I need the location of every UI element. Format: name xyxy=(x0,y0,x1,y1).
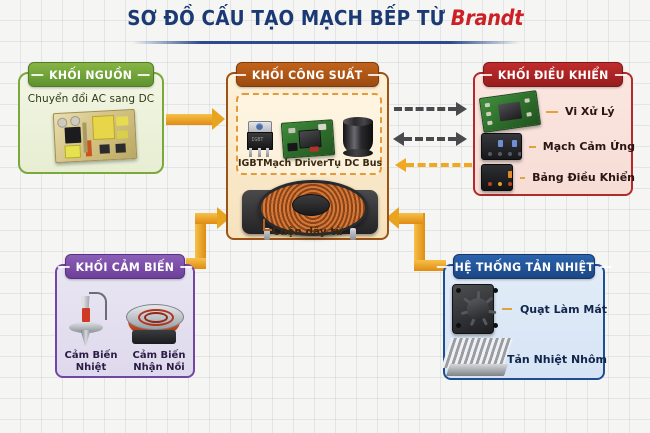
capacitor-base xyxy=(343,149,373,157)
probe-tip xyxy=(81,330,91,346)
page-title: SƠ ĐỒ CẤU TẠO MẠCH BẾP TỪBrandt xyxy=(127,6,523,30)
dash-left xyxy=(234,74,246,76)
power-module-parts-row: IGBT xyxy=(238,95,380,157)
block-cooling[interactable]: HỆ THỐNG TẢN NHIỆT Quạt Làm Mát xyxy=(443,264,605,380)
mcu-chip xyxy=(498,102,522,122)
block-power-supply-header: KHỐI NGUỒN xyxy=(28,62,154,87)
block-control[interactable]: KHỐI ĐIỀU KHIỂN Vi Xử Lý xyxy=(473,72,633,196)
power-supply-board-icon xyxy=(54,111,136,161)
microcontroller-board-icon xyxy=(479,90,541,133)
dash-left xyxy=(58,266,70,268)
coil-bolt-right xyxy=(350,228,356,240)
touch-leader xyxy=(529,146,536,148)
cooling-fan-icon xyxy=(452,284,494,334)
block-power-supply[interactable]: KHỐI NGUỒN Chuyển đổi AC sang DC xyxy=(18,72,164,174)
power-module-labels-row: IGBT Mạch Driver Tụ DC Bus xyxy=(238,158,380,169)
power-module-parts-group: IGBT IGBT Mạch Driver xyxy=(236,93,382,175)
igbt-pins xyxy=(249,148,269,157)
dash-left xyxy=(31,74,43,76)
cooling-item-heatsink[interactable]: Tản Nhiệt Nhôm xyxy=(452,338,607,380)
cooling-items: Quạt Làm Mát Tản Nhiệt Nhôm xyxy=(445,284,607,386)
aluminium-heatsink-icon xyxy=(446,338,484,380)
title-area: SƠ ĐỒ CẤU TẠO MẠCH BẾP TỪBrandt xyxy=(0,6,650,30)
block-cooling-header: HỆ THỐNG TẢN NHIỆT xyxy=(453,254,595,279)
dash-left xyxy=(480,74,492,76)
pcb-body xyxy=(53,109,138,163)
driver-part-b xyxy=(318,124,326,131)
control-label-touch: Mạch Cảm Ứng xyxy=(543,140,635,153)
hob-base xyxy=(132,330,176,344)
hob-ring-inner xyxy=(144,312,168,323)
sensor-items: Cảm Biến Nhiệt Cảm Biến Nhận Nồi xyxy=(57,284,193,374)
block-power-module-header: KHỐI CÔNG SUẤT xyxy=(236,62,379,87)
dash-left xyxy=(436,266,448,268)
pot-detection-sensor-icon xyxy=(126,302,182,348)
control-item-panel[interactable]: Bảng Điều Khiển xyxy=(481,164,635,191)
block-sensor-heading: KHỐI CẢM BIẾN xyxy=(52,260,198,274)
part-label-igbt: IGBT xyxy=(238,158,263,169)
arrow-core-to-control-line xyxy=(394,107,456,111)
cooling-label-fan: Quạt Làm Mát xyxy=(520,303,607,316)
driver-part-c xyxy=(288,128,295,133)
arrow-control-to-core-line xyxy=(406,163,472,167)
block-power-module[interactable]: KHỐI CÔNG SUẤT IGBT xyxy=(226,72,389,240)
block-power-supply-subtitle: Chuyển đổi AC sang DC xyxy=(20,93,162,105)
control-item-touch[interactable]: Mạch Cảm Ứng xyxy=(481,133,635,160)
block-control-heading: KHỐI ĐIỀU KHIỂN xyxy=(474,68,632,82)
block-sensor[interactable]: KHỐI CẢM BIẾN C xyxy=(55,264,195,378)
diagram-canvas: SƠ ĐỒ CẤU TẠO MẠCH BẾP TỪBrandt KHỐI NGU… xyxy=(0,0,650,433)
dash-right xyxy=(369,74,381,76)
arrow-core-to-control-head xyxy=(456,102,467,116)
panel-leader xyxy=(520,177,525,179)
arrow-core-control-bidir-head-right xyxy=(456,132,467,146)
mcu-leader xyxy=(546,111,558,113)
arrow-control-to-core-head xyxy=(395,158,406,172)
arrow-cooling-to-core-horizontal-top xyxy=(399,213,423,224)
heatsink-base xyxy=(446,364,508,376)
control-label-mcu: Vi Xử Lý xyxy=(565,105,615,118)
coil-hub xyxy=(292,194,330,216)
capacitor-top xyxy=(343,117,373,126)
block-sensor-header: KHỐI CẢM BIẾN xyxy=(65,254,185,279)
coil-label: Cuộn dây từ xyxy=(272,226,343,238)
sensor-labels-row: Cảm Biến Nhiệt Cảm Biến Nhận Nồi xyxy=(57,350,193,374)
arrow-core-control-bidir-line xyxy=(404,137,456,141)
cooling-label-heatsink: Tản Nhiệt Nhôm xyxy=(507,353,607,366)
part-label-capacitor: Tụ DC Bus xyxy=(328,158,382,169)
sensor-label-thermal: Cảm Biến Nhiệt xyxy=(65,350,118,374)
dash-right xyxy=(138,74,150,76)
arrow-sensor-to-core-horizontal-top xyxy=(195,213,219,224)
page-title-text: SƠ ĐỒ CẤU TẠO MẠCH BẾP TỪ xyxy=(127,6,445,30)
coil-leader-horizontal xyxy=(263,229,272,231)
probe-red-core xyxy=(82,308,90,322)
title-divider xyxy=(132,41,520,44)
dc-bus-capacitor-icon xyxy=(343,117,373,157)
sensor-label-pot: Cảm Biến Nhận Nồi xyxy=(133,350,186,374)
control-items: Vi Xử Lý Mạch Cảm Ứng Bảng Điều Khiển xyxy=(475,94,635,195)
block-cooling-heading: HỆ THỐNG TẢN NHIỆT xyxy=(431,260,618,274)
dash-right xyxy=(180,266,192,268)
driver-part-d xyxy=(310,146,319,152)
dash-right xyxy=(599,266,611,268)
control-panel-icon xyxy=(481,164,513,191)
arrow-power-to-core-head xyxy=(212,108,225,130)
driver-board-icon xyxy=(281,119,335,159)
block-power-supply-heading: KHỐI NGUỒN xyxy=(26,68,157,82)
fan-hub xyxy=(467,298,489,320)
block-control-header: KHỐI ĐIỀU KHIỂN xyxy=(483,62,623,87)
arrow-power-to-core-shaft xyxy=(166,114,214,125)
dash-right xyxy=(614,74,626,76)
touch-sensor-board-icon xyxy=(481,133,522,160)
part-label-driver: Mạch Driver xyxy=(263,158,328,169)
brand-name: Brandt xyxy=(451,6,523,30)
driver-part-a xyxy=(287,143,298,152)
igbt-transistor-icon: IGBT xyxy=(245,121,273,157)
probe-wire xyxy=(89,292,107,320)
fan-leader xyxy=(502,308,512,310)
arrow-core-control-bidir-head-left xyxy=(393,132,404,146)
control-item-mcu[interactable]: Vi Xử Lý xyxy=(481,94,635,129)
block-power-module-heading: KHỐI CÔNG SUẤT xyxy=(228,68,386,82)
cooling-item-fan[interactable]: Quạt Làm Mát xyxy=(452,284,607,334)
sensor-icons-row xyxy=(57,284,193,348)
control-label-panel: Bảng Điều Khiển xyxy=(532,171,635,184)
thermal-probe-icon xyxy=(69,296,103,348)
